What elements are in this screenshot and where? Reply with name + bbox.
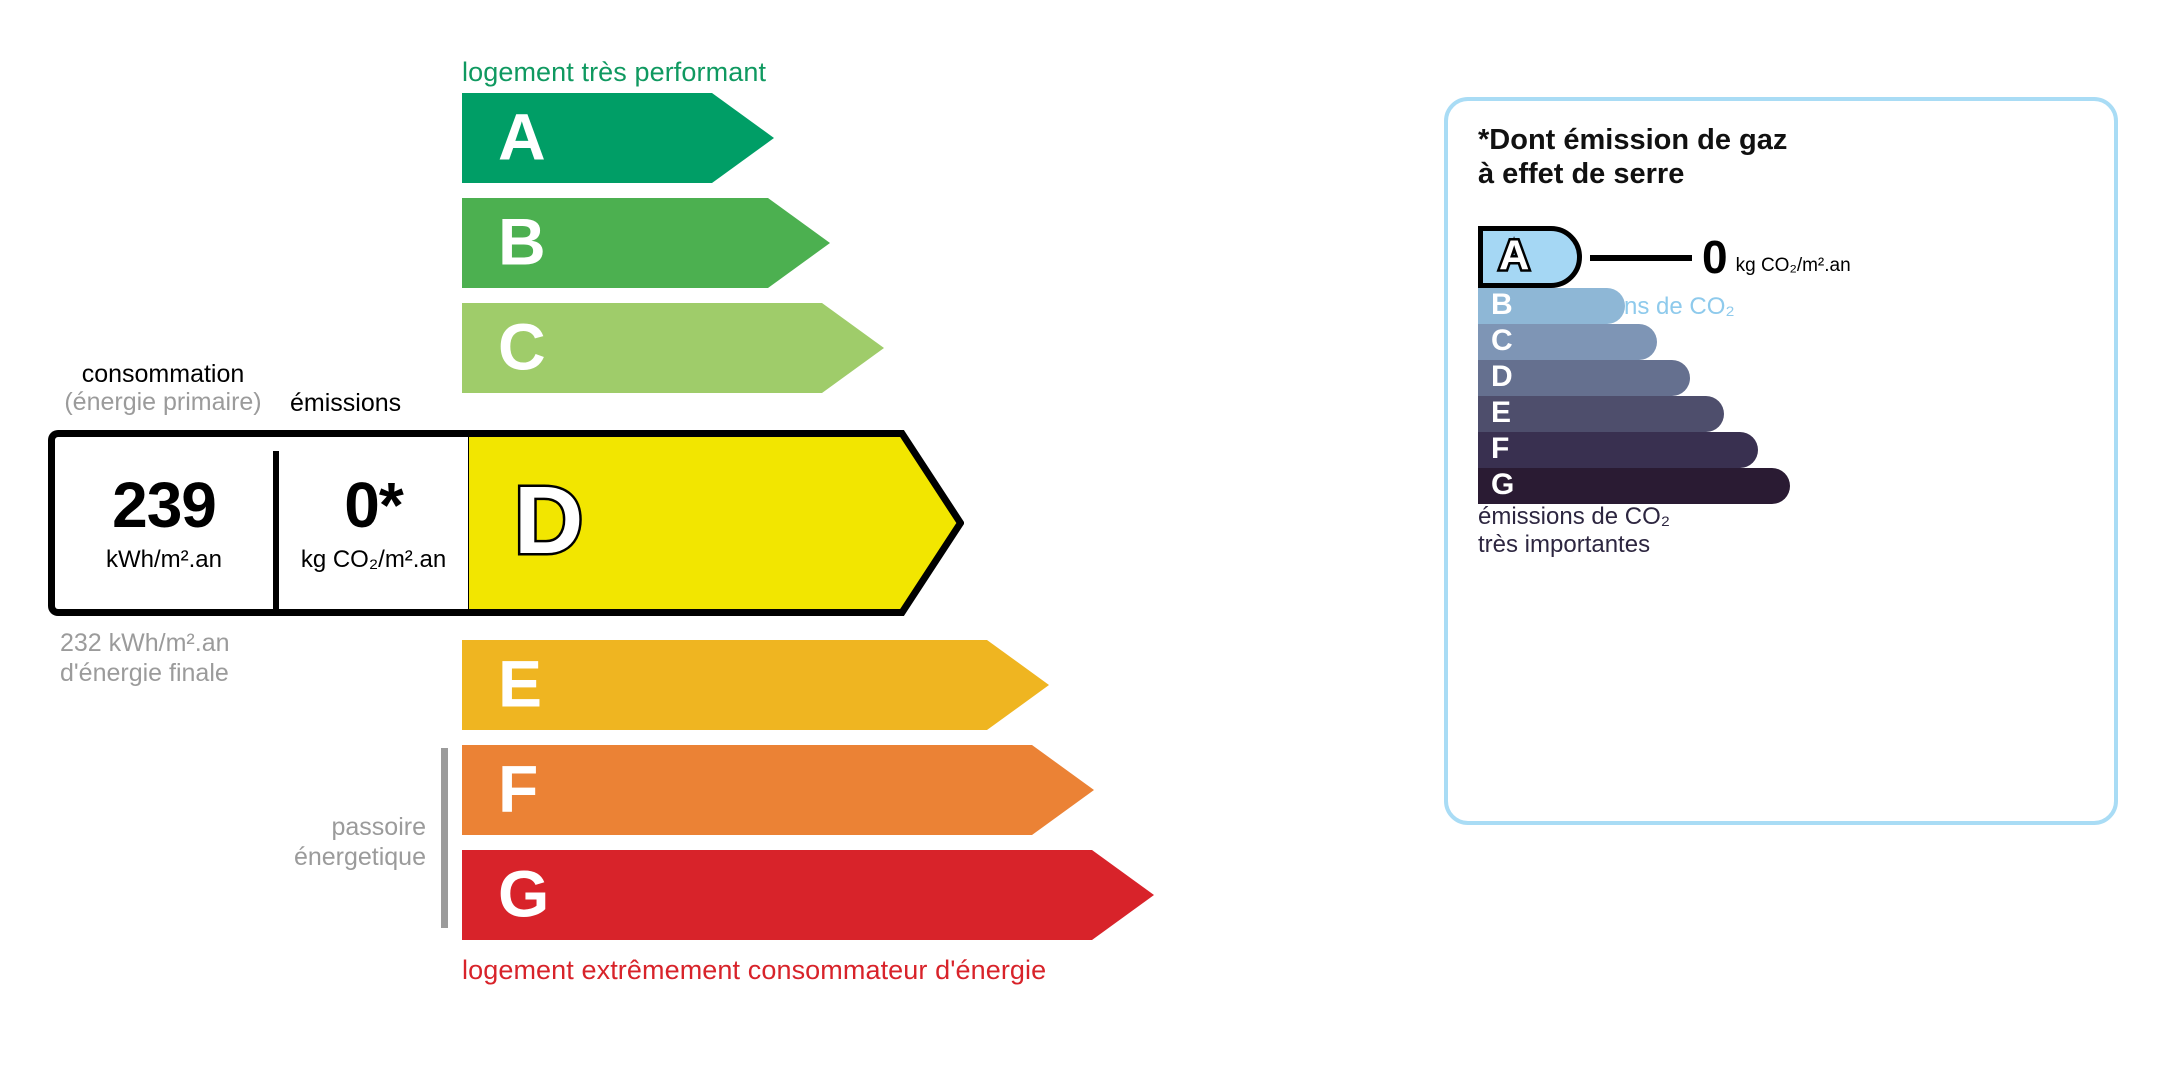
co2-bar-letter-b: B <box>1491 290 1513 320</box>
co2-row-a: A 0 kg CO₂/m².an <box>1478 226 2098 288</box>
passoire-bracket <box>441 748 448 928</box>
consumption-unit: kWh/m².an <box>106 546 222 574</box>
co2-value: 0 <box>1702 234 1728 280</box>
co2-bottom-caption-line-2: très importantes <box>1478 531 1670 559</box>
co2-bar-d: D <box>1478 360 1690 396</box>
consumption-title: consommation <box>82 360 245 388</box>
energy-band-g[interactable]: G <box>462 850 1154 940</box>
co2-bar-letter-e: E <box>1491 398 1511 428</box>
value-box: 239 kWh/m².an 0* kg CO₂/m².an <box>48 430 468 616</box>
co2-bar-letter-f: F <box>1491 434 1509 464</box>
co2-row-e[interactable]: E <box>1478 396 2098 432</box>
passoire-line-1: passoire <box>230 812 426 842</box>
consumption-label: consommation (énergie primaire) <box>48 360 278 416</box>
co2-value-unit: kg CO₂/m².an <box>1736 255 1851 277</box>
co2-bottom-caption-line-1: émissions de CO₂ <box>1478 503 1670 531</box>
co2-bar-f: F <box>1478 432 1758 468</box>
energy-performance-scale: logement très performant ABCDEFG passoir… <box>0 0 1400 1079</box>
co2-row-f[interactable]: F <box>1478 432 2098 468</box>
energy-band-d[interactable]: D <box>462 430 964 616</box>
co2-bar-letter-c: C <box>1491 326 1513 356</box>
co2-row-d[interactable]: D <box>1478 360 2098 396</box>
final-energy-line-2: d'énergie finale <box>60 658 230 688</box>
co2-bar-list: A 0 kg CO₂/m².an BCDEFG <box>1478 226 2098 504</box>
co2-badge-letter: A <box>1499 235 1529 277</box>
consumption-value: 239 <box>112 473 216 537</box>
co2-badge-a: A <box>1478 226 1582 288</box>
emission-label: émissions <box>290 389 401 418</box>
co2-bar-e: E <box>1478 396 1724 432</box>
co2-panel: *Dont émission de gaz à effet de serre p… <box>1444 97 2118 825</box>
energy-band-f[interactable]: F <box>462 745 1094 835</box>
energy-band-c[interactable]: C <box>462 303 884 393</box>
co2-row-c[interactable]: C <box>1478 324 2098 360</box>
energy-band-a[interactable]: A <box>462 93 774 183</box>
co2-bar-letter-g: G <box>1491 470 1514 500</box>
co2-bar-letter-d: D <box>1491 362 1513 392</box>
co2-bottom-caption: émissions de CO₂ très importantes <box>1478 503 1670 560</box>
co2-bar-g: G <box>1478 468 1790 504</box>
scale-top-caption: logement très performant <box>462 57 766 88</box>
final-energy-line-1: 232 kWh/m².an <box>60 628 230 658</box>
emission-unit: kg CO₂/m².an <box>301 546 446 574</box>
passoire-line-2: énergetique <box>230 842 426 872</box>
emission-value: 0* <box>344 473 403 537</box>
co2-title-line-2: à effet de serre <box>1478 158 1787 192</box>
final-energy-label: 232 kWh/m².an d'énergie finale <box>60 628 230 688</box>
energy-band-e[interactable]: E <box>462 640 1049 730</box>
co2-value-group: 0 kg CO₂/m².an <box>1702 234 1851 280</box>
consumption-subtitle: (énergie primaire) <box>48 388 278 416</box>
co2-connector-line <box>1590 255 1692 261</box>
scale-bottom-caption: logement extrêmement consommateur d'éner… <box>462 955 1046 986</box>
consumption-value-cell: 239 kWh/m².an <box>55 437 273 609</box>
co2-title-line-1: *Dont émission de gaz <box>1478 124 1787 158</box>
co2-row-b[interactable]: B <box>1478 288 2098 324</box>
emission-value-cell: 0* kg CO₂/m².an <box>279 437 468 609</box>
passoire-label: passoire énergetique <box>230 812 426 872</box>
energy-band-b[interactable]: B <box>462 198 830 288</box>
co2-rows-container: BCDEFG <box>1478 288 2098 504</box>
dpe-energy-label: logement très performant ABCDEFG passoir… <box>0 0 2169 1079</box>
co2-row-g[interactable]: G <box>1478 468 2098 504</box>
co2-bar-b: B <box>1478 288 1625 324</box>
co2-panel-title: *Dont émission de gaz à effet de serre <box>1478 124 1787 192</box>
co2-bar-c: C <box>1478 324 1657 360</box>
